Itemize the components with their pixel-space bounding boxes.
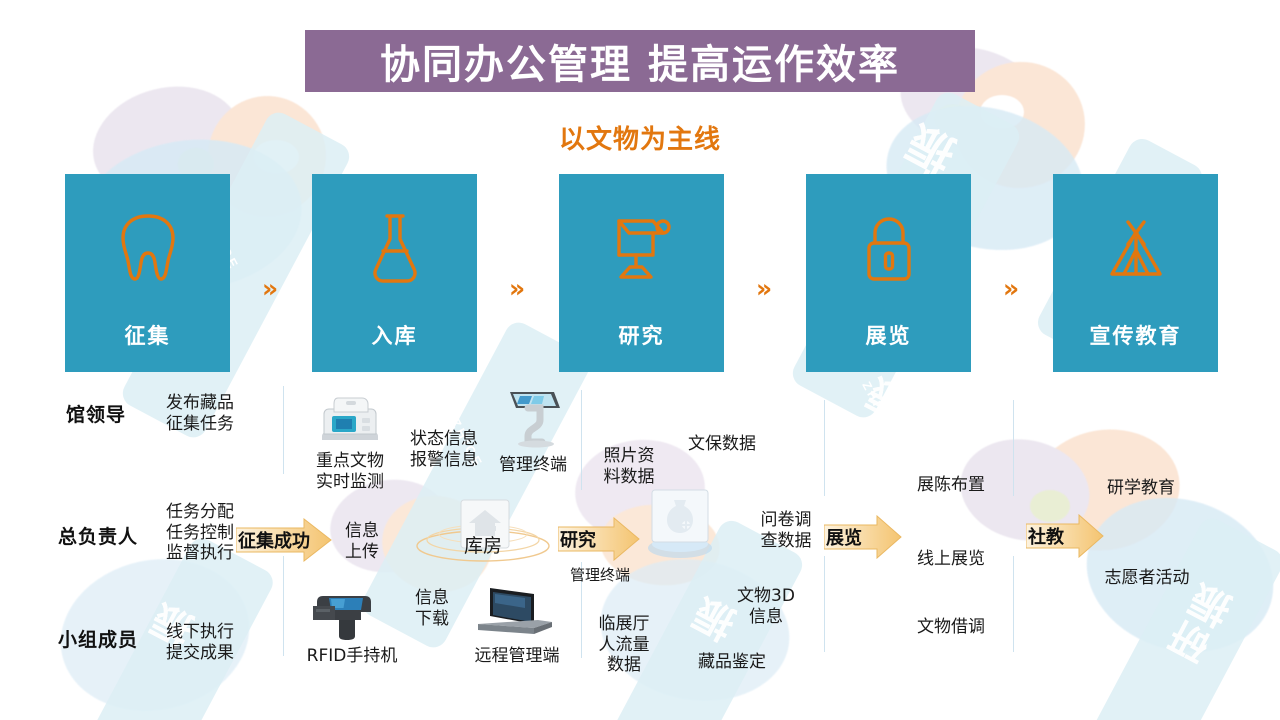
stage-label-research: 研究 <box>559 320 724 350</box>
cell-research-appraisal: 藏品鉴定 <box>684 652 780 673</box>
stage-separator-1: » <box>262 276 278 301</box>
cell-storage-rfid-label: RFID手持机 <box>294 646 410 667</box>
cell-storage-download: 信息 下载 <box>404 588 460 629</box>
column-divider-2 <box>283 556 284 656</box>
cell-storage-admin-terminal: 管理终端 <box>489 455 577 476</box>
stage-box-storage[interactable]: 入库 <box>312 174 477 372</box>
flow-arrow-research: 研究 <box>558 517 640 561</box>
column-divider-1 <box>283 386 284 474</box>
cell-collect-member: 线下执行 提交成果 <box>152 622 248 663</box>
row-label-manager: 总负责人 <box>58 522 138 549</box>
cell-research-photo-data: 照片资 料数据 <box>595 446 663 487</box>
lock-icon <box>861 210 917 288</box>
instrument-icon <box>316 392 384 446</box>
device-remote-laptop <box>470 584 556 642</box>
laptop-icon <box>470 584 556 642</box>
cell-storage-monitor-label: 重点文物 实时监测 <box>298 451 402 492</box>
flask-icon <box>369 210 421 288</box>
cell-research-relic-3d: 文物3D 信息 <box>726 586 806 627</box>
device-rfid-handheld <box>305 586 379 640</box>
cell-storage-remote-label: 远程管理端 <box>462 646 572 667</box>
column-divider-8 <box>1013 556 1014 652</box>
tooth-icon <box>117 210 179 288</box>
cell-exhibition-online: 线上展览 <box>903 549 999 570</box>
flow-arrow-label-research: 研究 <box>558 526 596 552</box>
column-divider-5 <box>824 400 825 496</box>
cell-research-temp-hall-flow: 临展厅 人流量 数据 <box>588 614 660 676</box>
stage-box-collect[interactable]: 征集 <box>65 174 230 372</box>
cell-exhibition-loan: 文物借调 <box>903 617 999 638</box>
research-database-graphic <box>642 486 718 567</box>
desk-lamp-monitor-icon <box>609 210 675 288</box>
kiosk-icon <box>498 386 566 448</box>
page-title: 协同办公管理 提高运作效率 <box>380 32 900 90</box>
stage-box-education[interactable]: 宣传教育 <box>1053 174 1218 372</box>
cell-research-protection-data: 文保数据 <box>674 434 770 455</box>
cell-research-survey-data: 问卷调 查数据 <box>752 510 820 551</box>
flow-arrow-label-exhibition: 展览 <box>824 524 862 550</box>
column-divider-7 <box>1013 400 1014 496</box>
cell-education-study-tour: 研学教育 <box>1093 478 1189 499</box>
stage-label-exhibition: 展览 <box>806 320 971 350</box>
cell-storage-warehouse-label: 库房 <box>443 535 523 558</box>
device-monitor-instrument <box>316 392 384 446</box>
flow-arrow-label-collect-success: 征集成功 <box>236 527 310 553</box>
stage-separator-3: » <box>756 276 772 301</box>
stage-label-education: 宣传教育 <box>1053 320 1218 350</box>
stage-box-research[interactable]: 研究 <box>559 174 724 372</box>
column-divider-3 <box>581 390 582 490</box>
row-label-member: 小组成员 <box>58 625 138 652</box>
cell-exhibition-layout: 展陈布置 <box>903 475 999 496</box>
slide-canvas: 振 研 ZHICE 振 研 ZHICE 振 研 振 ZHICE 振 振 振 研 … <box>0 0 1280 720</box>
flow-arrow-exhibition: 展览 <box>824 515 902 559</box>
flow-arrow-label-education: 社教 <box>1026 523 1064 549</box>
tent-icon <box>1106 210 1166 288</box>
cell-storage-upload: 信息 上传 <box>334 521 390 562</box>
cell-education-volunteer: 志愿者活动 <box>1087 568 1207 589</box>
cell-collect-leader: 发布藏品 征集任务 <box>152 393 248 434</box>
cell-collect-manager: 任务分配 任务控制 监督执行 <box>152 502 248 564</box>
stage-box-exhibition[interactable]: 展览 <box>806 174 971 372</box>
column-divider-6 <box>824 556 825 652</box>
flow-arrow-collect-success: 征集成功 <box>236 518 332 562</box>
stage-label-collect: 征集 <box>65 320 230 350</box>
rfid-handheld-icon <box>305 586 379 640</box>
cell-research-admin-terminal: 管理终端 <box>556 566 644 584</box>
stage-separator-2: » <box>509 276 525 301</box>
stage-separator-4: » <box>1003 276 1019 301</box>
slide-title-bar: 协同办公管理 提高运作效率 <box>305 30 975 92</box>
flow-arrow-education: 社教 <box>1026 514 1104 558</box>
device-admin-kiosk <box>498 386 566 448</box>
cell-storage-status-info: 状态信息 报警信息 <box>404 429 484 470</box>
page-subtitle: 以文物为主线 <box>0 119 1280 156</box>
stage-label-storage: 入库 <box>312 320 477 350</box>
row-label-leader: 馆领导 <box>66 400 126 427</box>
database-vase-icon <box>642 486 718 562</box>
